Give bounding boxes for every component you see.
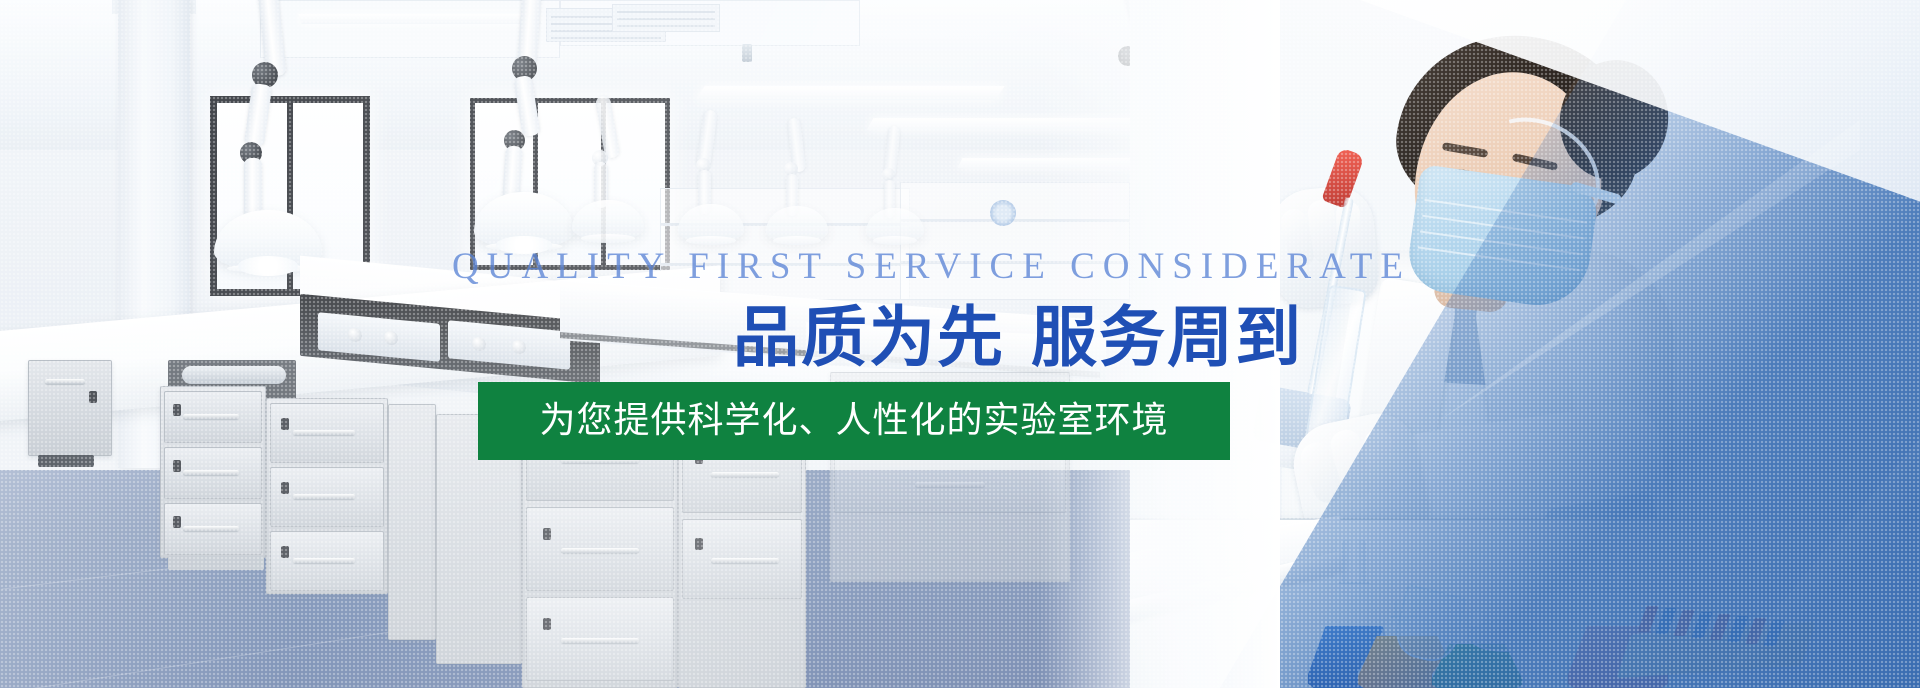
english-tagline: QUALITY FIRST SERVICE CONSIDERATE xyxy=(452,248,1411,285)
subtitle-green-bar: 为您提供科学化、人性化的实验室环境 xyxy=(478,382,1230,460)
headline: 品质为先服务周到 xyxy=(733,302,1303,373)
promo-banner: QUALITY FIRST SERVICE CONSIDERATE 品质为先服务… xyxy=(0,0,1920,688)
headline-part-2: 服务周到 xyxy=(1031,299,1303,376)
headline-part-1: 品质为先 xyxy=(733,299,1005,376)
subtitle-text: 为您提供科学化、人性化的实验室环境 xyxy=(539,403,1168,439)
